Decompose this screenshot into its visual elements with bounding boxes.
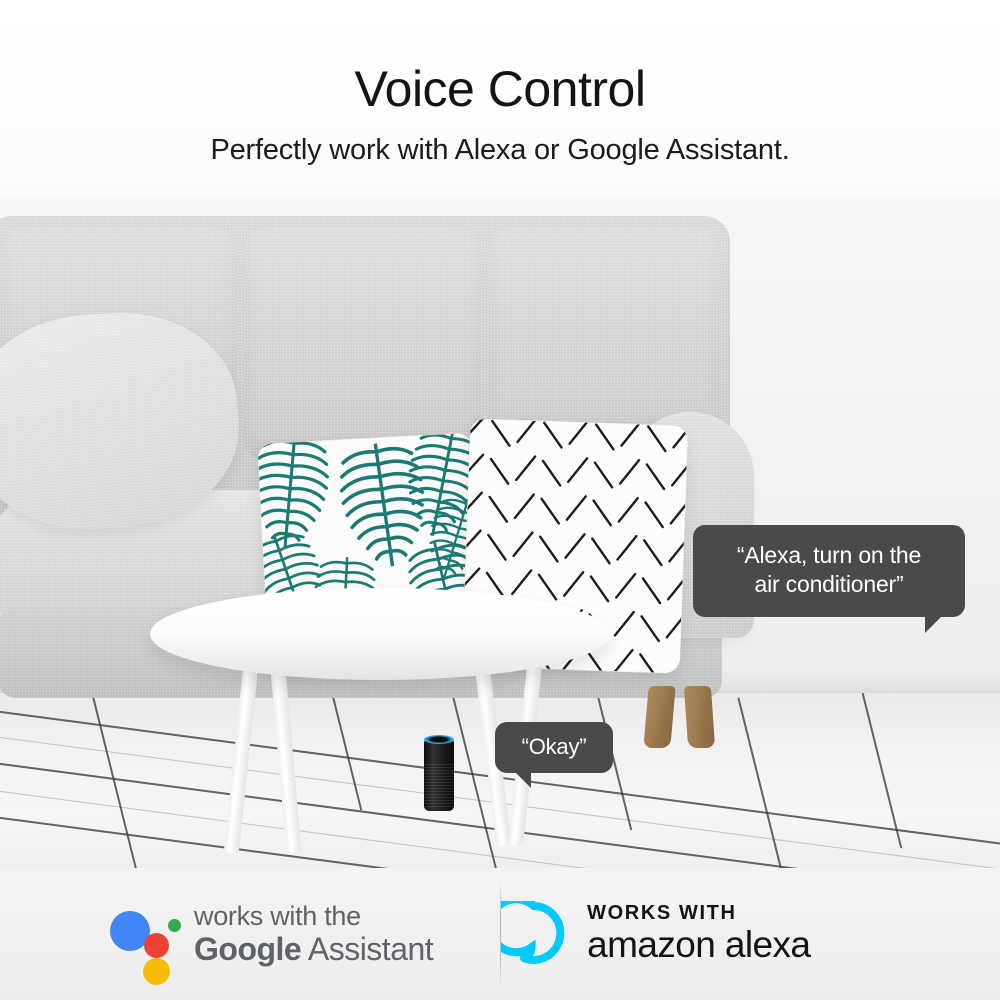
page-title: Voice Control [355,64,646,114]
google-yellow-dot [143,958,170,985]
google-green-dot [168,919,181,932]
speech-bubble-alexa-command: “Alexa, turn on the air conditioner” [693,525,965,617]
bubble-tail [925,615,943,633]
google-brand-word: Google [194,931,301,967]
header-section: Voice Control Perfectly work with Alexa … [0,0,1000,196]
product-feature-card: Voice Control Perfectly work with Alexa … [0,0,1000,1000]
works-with-google-assistant-badge: works with the Google Assistant [110,868,433,1000]
smart-speaker-device[interactable] [424,733,454,811]
alexa-badge-line-1: WORKS WITH [587,903,810,924]
table-leg [269,656,301,855]
amazon-alexa-icon [501,901,567,967]
google-badge-line-2: Google Assistant [194,933,433,967]
google-red-dot [144,933,169,958]
compatibility-footer: works with the Google Assistant WORKS WI… [0,868,1000,1000]
bubble-tail [515,772,531,788]
google-product-word: Assistant [308,931,433,967]
google-assistant-icon [110,903,172,965]
speaker-light-ring [424,735,454,744]
sofa-wooden-leg [684,686,715,748]
works-with-amazon-alexa-badge: WORKS WITH amazon alexa [501,868,810,1000]
bubble-line-1: “Alexa, turn on the [707,541,951,570]
table-top [150,588,610,680]
google-badge-line-1: works with the [194,902,433,930]
speaker-body [424,739,454,811]
table-leg [224,656,260,854]
google-badge-text: works with the Google Assistant [194,902,433,967]
bubble-line-2: air conditioner” [707,570,951,599]
alexa-badge-text: WORKS WITH amazon alexa [587,903,810,965]
page-subtitle: Perfectly work with Alexa or Google Assi… [210,136,789,165]
bubble-line-1: “Okay” [505,733,603,761]
lifestyle-photo: “Alexa, turn on the air conditioner” “Ok… [0,196,1000,868]
sofa-wooden-leg [643,686,675,748]
speech-bubble-assistant-reply: “Okay” [495,722,613,773]
sofa-back-cushion [244,228,480,460]
alexa-badge-line-2: amazon alexa [587,926,810,965]
